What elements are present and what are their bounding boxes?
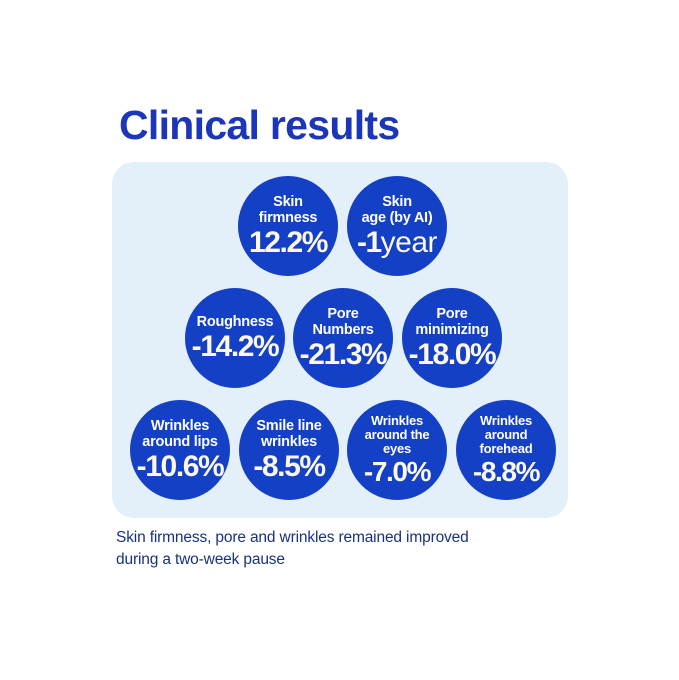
stat-label-pore-minimizing: Pore minimizing xyxy=(412,306,491,338)
stat-circle-skin-age: Skin age (by AI) -1year xyxy=(347,176,447,276)
page-title: Clinical results xyxy=(119,105,399,146)
stat-circle-wrinkles-around-eyes: Wrinkles around the eyes -7.0% xyxy=(347,400,447,500)
stat-label-wrinkles-around-lips: Wrinkles around lips xyxy=(139,418,220,450)
stat-circle-wrinkles-around-lips: Wrinkles around lips -10.6% xyxy=(130,400,230,500)
stat-circle-roughness: Roughness -14.2% xyxy=(185,288,285,388)
stat-label-wrinkles-around-forehead: Wrinkles around forehead xyxy=(477,414,536,457)
stat-circle-skin-firmness: Skin firmness 12.2% xyxy=(238,176,338,276)
stat-value-unit-skin-age: year xyxy=(381,226,437,259)
stat-label-roughness: Roughness xyxy=(194,314,277,330)
stats-panel: Skin firmness 12.2% Skin age (by AI) -1y… xyxy=(112,162,568,518)
stat-circle-wrinkles-around-forehead: Wrinkles around forehead -8.8% xyxy=(456,400,556,500)
stat-value-smile-line-wrinkles: -8.5% xyxy=(253,452,324,482)
stat-label-smile-line-wrinkles: Smile line wrinkles xyxy=(253,418,324,450)
stat-circle-pore-numbers: Pore Numbers -21.3% xyxy=(293,288,393,388)
caption-line-1: Skin firmness, pore and wrinkles remaine… xyxy=(116,527,586,549)
stat-label-skin-firmness: Skin firmness xyxy=(256,194,320,226)
stat-label-wrinkles-around-eyes: Wrinkles around the eyes xyxy=(362,414,433,457)
stat-value-roughness: -14.2% xyxy=(192,332,279,362)
caption: Skin firmness, pore and wrinkles remaine… xyxy=(116,527,586,571)
stat-label-pore-numbers: Pore Numbers xyxy=(309,306,376,338)
clinical-results-infographic: Clinical results Skin firmness 12.2% Ski… xyxy=(0,0,679,680)
stat-value-wrinkles-around-lips: -10.6% xyxy=(137,452,224,482)
stat-value-pore-numbers: -21.3% xyxy=(300,340,387,370)
stat-value-number-skin-age: -1 xyxy=(357,226,381,259)
stat-circle-pore-minimizing: Pore minimizing -18.0% xyxy=(402,288,502,388)
stat-value-skin-firmness: 12.2% xyxy=(249,228,327,258)
stat-value-skin-age: -1year xyxy=(357,228,437,258)
stat-value-wrinkles-around-eyes: -7.0% xyxy=(364,458,430,486)
stat-circle-smile-line-wrinkles: Smile line wrinkles -8.5% xyxy=(239,400,339,500)
stat-label-skin-age: Skin age (by AI) xyxy=(359,194,436,226)
stat-value-wrinkles-around-forehead: -8.8% xyxy=(473,458,539,486)
caption-line-2: during a two-week pause xyxy=(116,549,586,571)
stat-value-pore-minimizing: -18.0% xyxy=(409,340,496,370)
